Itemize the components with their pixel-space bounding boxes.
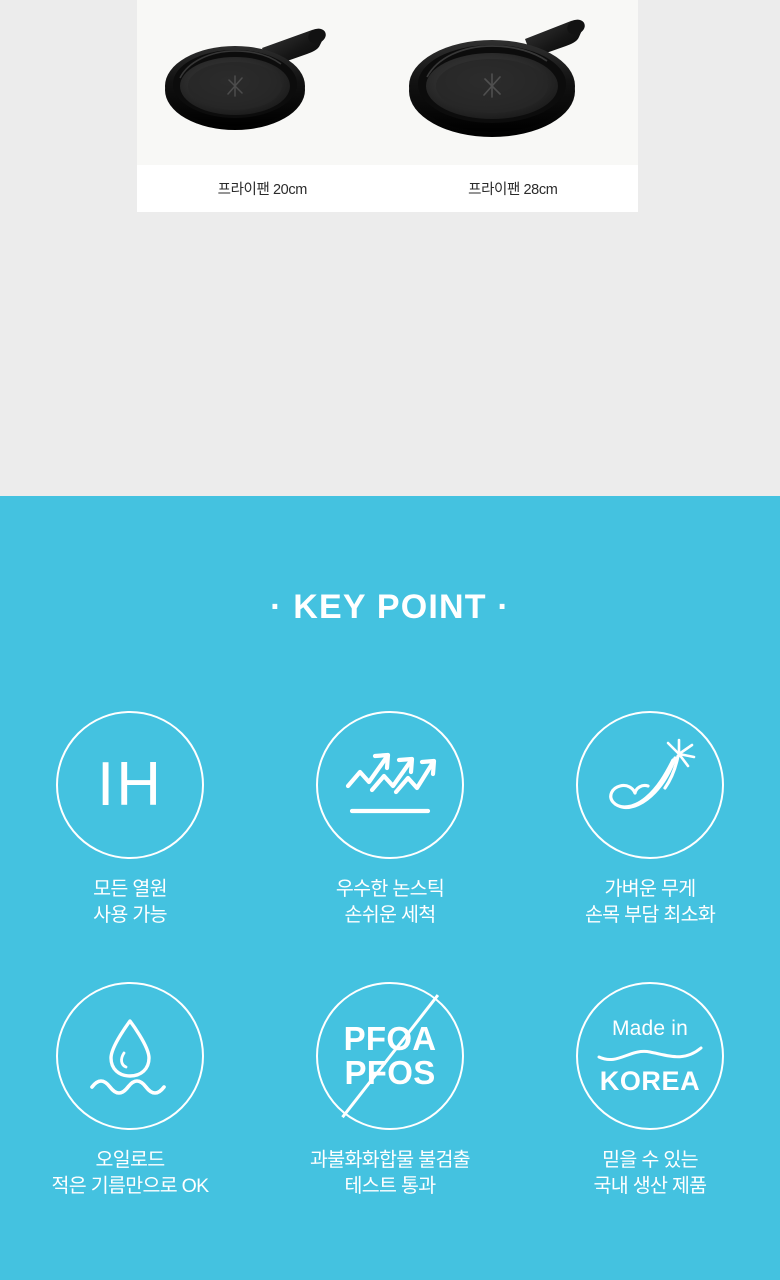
key-point-section: · KEY POINT · IH 모든 열원 사용 가능 [0, 496, 780, 1280]
product-label-28cm: 프라이팬 28cm [388, 178, 639, 199]
caption-line-1: 믿을 수 있는 [594, 1147, 707, 1173]
feather-icon [576, 711, 724, 859]
feather-glyph [600, 736, 700, 834]
key-point-grid: IH 모든 열원 사용 가능 [0, 711, 780, 1200]
pfos-label: PFOS [344, 1054, 435, 1091]
product-label-20cm: 프라이팬 20cm [137, 178, 388, 199]
frying-pan-icon [405, 13, 620, 153]
product-showcase-section: 프라이팬 20cm 프라이팬 28cm [0, 0, 780, 496]
frying-pan-icon [162, 18, 362, 148]
arrows-glyph [342, 742, 438, 828]
key-point-caption: 과불화화합물 불검출 테스트 통과 [310, 1147, 470, 1199]
product-photo-area [137, 0, 638, 165]
caption-line-1: 과불화화합물 불검출 [310, 1147, 470, 1173]
made-in-label: Made in [596, 1018, 704, 1039]
product-image-cell[interactable] [137, 18, 387, 148]
key-point-caption: 우수한 논스틱 손쉬운 세척 [336, 876, 444, 928]
caption-line-1: 가벼운 무게 [585, 876, 715, 902]
ih-induction-icon: IH [56, 711, 204, 859]
no-pfoa-pfos-icon: PFOA PFOS [316, 982, 464, 1130]
key-point-item-made-in-korea[interactable]: Made in KOREA 믿을 수 있는 국내 생산 제품 [520, 982, 780, 1199]
caption-line-2: 적은 기름만으로 OK [52, 1173, 209, 1199]
key-point-item-lightweight[interactable]: 가벼운 무게 손목 부담 최소화 [520, 711, 780, 928]
key-point-title: · KEY POINT · [0, 588, 780, 627]
key-point-row: 오일로드 적은 기름만으로 OK PFOA PFOS 과불화화합물 불검출 테스… [0, 982, 780, 1199]
key-point-caption: 모든 열원 사용 가능 [93, 876, 167, 928]
key-point-caption: 믿을 수 있는 국내 생산 제품 [594, 1147, 707, 1199]
made-in-korea-icon: Made in KOREA [576, 982, 724, 1130]
wave-divider-icon [596, 1044, 704, 1064]
key-point-caption: 가벼운 무게 손목 부담 최소화 [585, 876, 715, 928]
drop-wave-glyph [84, 1013, 176, 1099]
key-point-item-oil-road[interactable]: 오일로드 적은 기름만으로 OK [0, 982, 260, 1199]
korea-badge: Made in KOREA [596, 1018, 704, 1095]
product-card: 프라이팬 20cm 프라이팬 28cm [137, 0, 638, 212]
product-image-cell[interactable] [388, 13, 638, 153]
caption-line-2: 사용 가능 [93, 902, 167, 928]
ih-badge-text: IH [97, 754, 163, 816]
caption-line-1: 모든 열원 [93, 876, 167, 902]
key-point-item-induction[interactable]: IH 모든 열원 사용 가능 [0, 711, 260, 928]
caption-line-1: 우수한 논스틱 [336, 876, 444, 902]
water-drop-wave-icon [56, 982, 204, 1130]
key-point-item-pfoa-free[interactable]: PFOA PFOS 과불화화합물 불검출 테스트 통과 [260, 982, 520, 1199]
korea-label: KOREA [596, 1068, 704, 1095]
caption-line-2: 테스트 통과 [310, 1173, 470, 1199]
caption-line-2: 손쉬운 세척 [336, 902, 444, 928]
key-point-row: IH 모든 열원 사용 가능 [0, 711, 780, 928]
key-point-item-nonstick[interactable]: 우수한 논스틱 손쉬운 세척 [260, 711, 520, 928]
caption-line-2: 손목 부담 최소화 [585, 902, 715, 928]
key-point-caption: 오일로드 적은 기름만으로 OK [52, 1147, 209, 1199]
product-label-area: 프라이팬 20cm 프라이팬 28cm [137, 165, 638, 212]
nonstick-arrows-icon [316, 711, 464, 859]
caption-line-2: 국내 생산 제품 [594, 1173, 707, 1199]
caption-line-1: 오일로드 [52, 1147, 209, 1173]
